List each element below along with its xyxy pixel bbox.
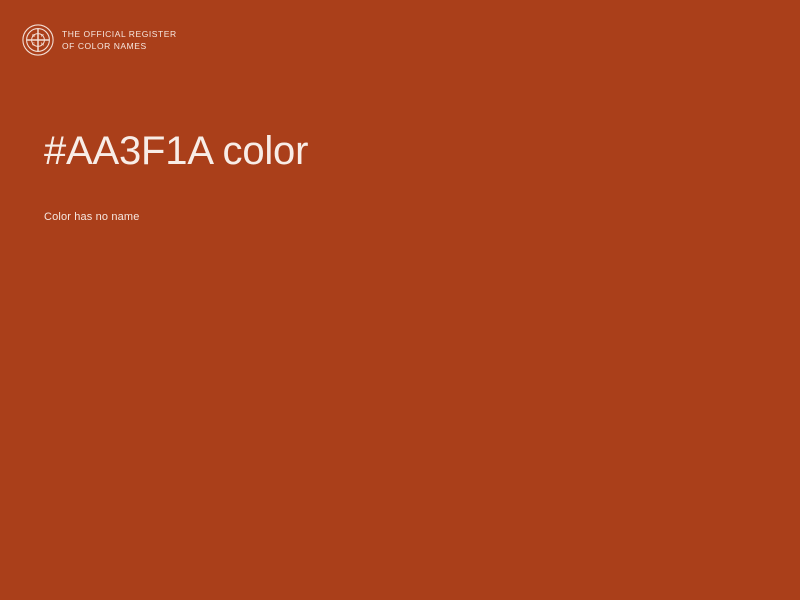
brand-wordmark-line-2: OF COLOR NAMES [62,41,177,53]
brand-wordmark: THE OFFICIAL REGISTER OF COLOR NAMES [62,28,177,52]
color-page: O R C N THE OFFICIAL REGISTER OF COLOR N… [0,0,800,600]
color-name-status: Color has no name [44,176,744,225]
svg-text:N: N [41,42,44,47]
color-title: #AA3F1A color [44,126,744,176]
register-seal-icon: O R C N [22,24,54,56]
brand-wordmark-line-1: THE OFFICIAL REGISTER [62,29,177,41]
brand-lockup[interactable]: O R C N THE OFFICIAL REGISTER OF COLOR N… [22,24,177,56]
color-info-block: #AA3F1A color Color has no name [44,126,744,225]
svg-text:O: O [32,33,36,38]
